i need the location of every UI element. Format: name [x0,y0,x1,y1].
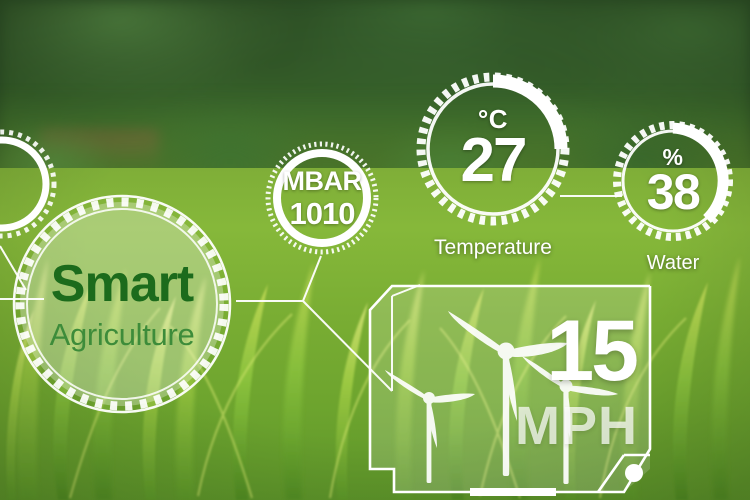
pressure-value: 1010 [290,198,355,229]
brand-line2: Agriculture [50,319,195,350]
wind-speed-value: 15 [546,308,636,394]
temperature-value: 27 [461,130,526,192]
water-value: 38 [647,167,700,217]
wind-speed-unit: MPH [515,399,638,453]
wind-speed-panel[interactable]: 15 MPH [366,283,654,495]
dashboard-overlay-scene: MBAR 1010 °C 27 Temperature % 38 Water [0,0,750,500]
water-label: Water [610,252,736,275]
wind-panel-status-dot [625,464,643,482]
water-gauge[interactable]: % 38 Water [610,118,736,244]
pressure-gauge[interactable]: MBAR 1010 [264,140,380,256]
wind-panel-bottom-marker [470,488,556,496]
temperature-gauge[interactable]: °C 27 Temperature [414,70,572,228]
brand-badge[interactable]: Smart Agriculture [6,188,238,420]
temperature-label: Temperature [414,236,572,260]
pressure-unit: MBAR [283,168,362,195]
brand-line1: Smart [51,258,193,310]
